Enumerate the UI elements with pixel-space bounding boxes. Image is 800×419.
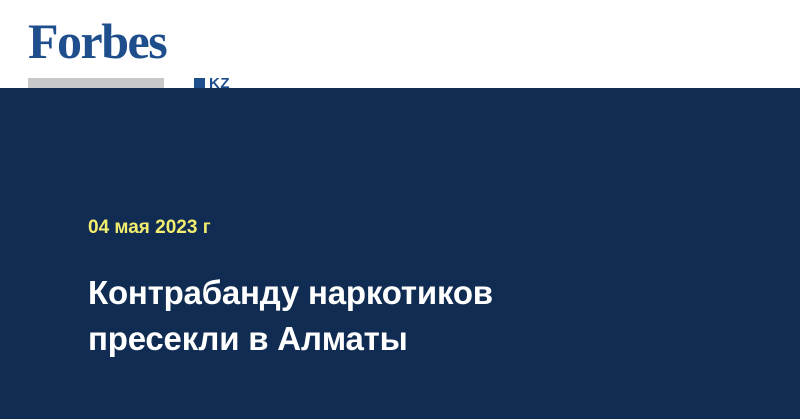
forbes-wordmark: Forbes xyxy=(28,16,166,66)
article-headline: Контрабанду наркотиков пресекли в Алматы xyxy=(88,270,648,362)
article-publish-date: 04 мая 2023 г xyxy=(88,216,211,240)
logo-gray-bar xyxy=(28,78,164,88)
site-header: Forbes KZ xyxy=(0,0,800,88)
article-page: Forbes KZ 04 мая 2023 г Контрабанду нарк… xyxy=(0,0,800,419)
forbes-kz-logo[interactable]: Forbes KZ xyxy=(28,16,218,78)
article-hero: 04 мая 2023 г Контрабанду наркотиков пре… xyxy=(0,88,800,419)
